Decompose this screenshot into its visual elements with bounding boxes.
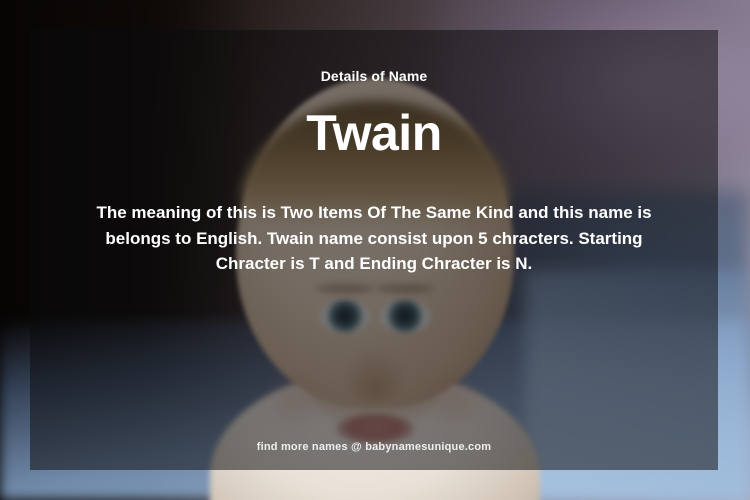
name-description: The meaning of this is Two Items Of The … [94, 200, 654, 277]
site-footer-credit: find more names @ babynamesunique.com [30, 441, 718, 453]
details-overlay-panel: Details of Name Twain The meaning of thi… [30, 30, 718, 470]
name-detail-card: Details of Name Twain The meaning of thi… [0, 0, 750, 500]
baby-name-heading: Twain [306, 108, 441, 158]
card-title: Details of Name [321, 68, 428, 84]
